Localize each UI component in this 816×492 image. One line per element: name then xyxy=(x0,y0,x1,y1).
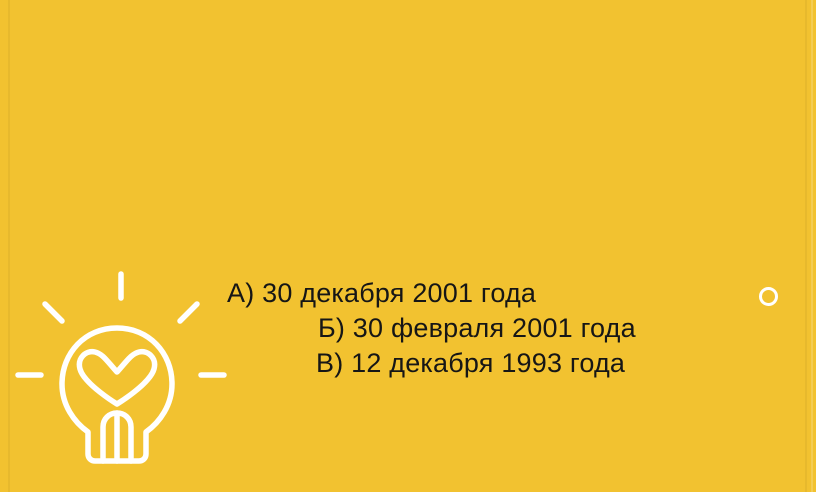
answer-option-c: В) 12 декабря 1993 года xyxy=(0,346,816,381)
slide-right-edge-line xyxy=(805,0,807,492)
slide-right-edge-highlight xyxy=(811,0,813,492)
answer-option-b: Б) 30 февраля 2001 года xyxy=(0,311,816,346)
answer-options-list: А) 30 декабря 2001 года Б) 30 февраля 20… xyxy=(0,276,816,381)
slide-canvas: А) 30 декабря 2001 года Б) 30 февраля 20… xyxy=(0,0,816,492)
answer-option-a: А) 30 декабря 2001 года xyxy=(0,276,816,311)
